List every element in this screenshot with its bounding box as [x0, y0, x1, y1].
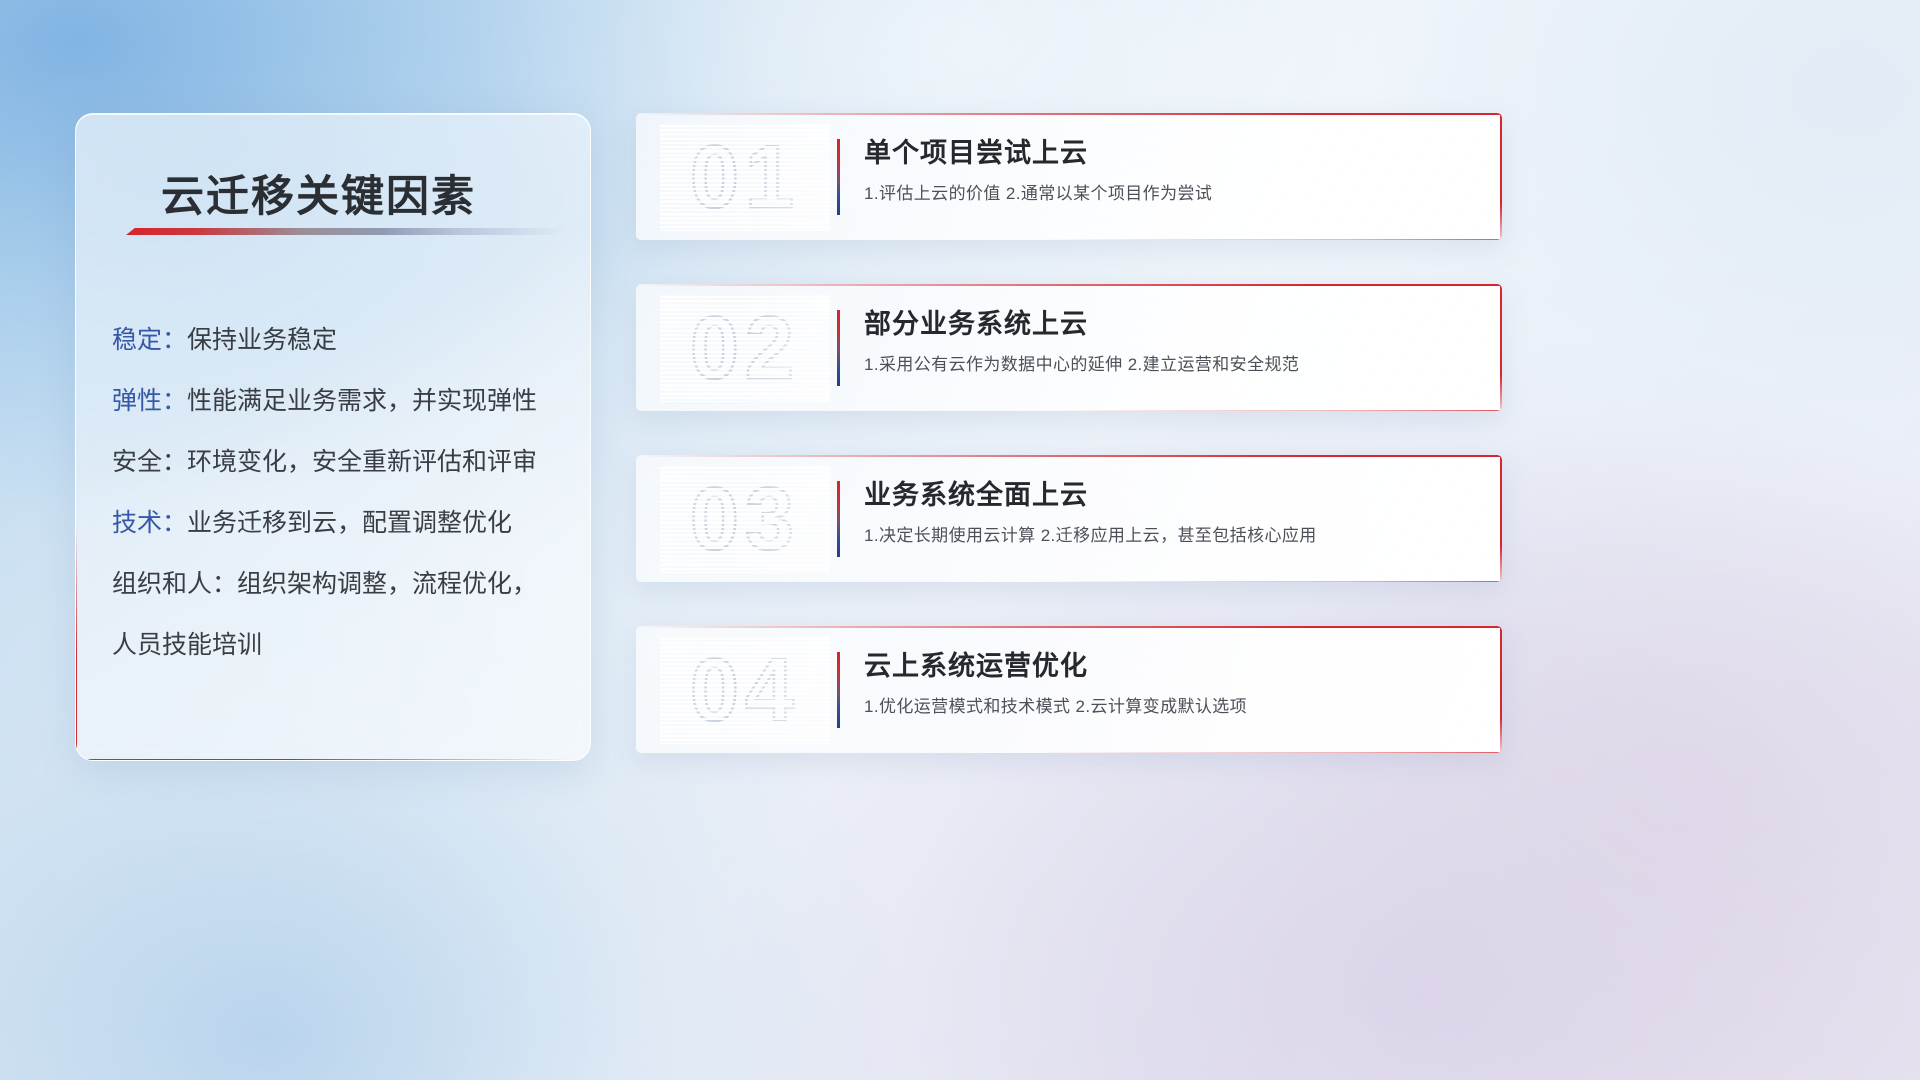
card-top-accent: [636, 284, 1502, 286]
step-title: 云上系统运营优化: [864, 646, 1468, 686]
step-description: 1.采用公有云作为数据中心的延伸 2.建立运营和安全规范: [864, 352, 1468, 378]
factor-value: 业务迁移到云，配置调整优化: [187, 509, 512, 537]
step-description: 1.评估上云的价值 2.通常以某个项目作为尝试: [864, 181, 1468, 207]
card-divider-bar: [837, 652, 840, 728]
step-description: 1.优化运营模式和技术模式 2.云计算变成默认选项: [864, 694, 1468, 720]
step-number-glyph: 03: [660, 465, 830, 573]
card-right-accent: [1500, 626, 1502, 753]
card-divider-bar: [837, 139, 840, 215]
page-title: 云迁移关键因素: [161, 162, 476, 224]
step-number-watermark: 01: [660, 123, 830, 231]
card-top-accent: [636, 626, 1502, 628]
card-right-accent: [1500, 284, 1502, 411]
card-bottom-accent: [636, 410, 1502, 411]
card-right-accent: [1500, 455, 1502, 582]
card-bottom-accent: [636, 239, 1502, 240]
card-bottom-accent: [636, 752, 1502, 753]
factor-value: 保持业务稳定: [187, 326, 337, 354]
step-text-block: 单个项目尝试上云 1.评估上云的价值 2.通常以某个项目作为尝试: [864, 133, 1468, 207]
migration-steps-list: 01 单个项目尝试上云 1.评估上云的价值 2.通常以某个项目作为尝试 02 部…: [636, 113, 1502, 797]
step-title: 业务系统全面上云: [864, 475, 1468, 515]
factor-value: 组织架构调整，流程优化，: [237, 570, 537, 598]
card-top-accent: [636, 455, 1502, 457]
key-factors-panel: 云迁移关键因素 稳定：保持业务稳定 弹性：性能满足业务需求，并实现弹性 安全：环…: [75, 113, 591, 761]
slide-canvas: 云迁移关键因素 稳定：保持业务稳定 弹性：性能满足业务需求，并实现弹性 安全：环…: [0, 0, 1920, 1080]
factor-label: 稳定：: [112, 326, 187, 354]
step-card-01[interactable]: 01 单个项目尝试上云 1.评估上云的价值 2.通常以某个项目作为尝试: [636, 113, 1502, 240]
step-text-block: 业务系统全面上云 1.决定长期使用云计算 2.迁移应用上云，甚至包括核心应用: [864, 475, 1468, 549]
step-title: 部分业务系统上云: [864, 304, 1468, 344]
factor-label: 弹性：: [112, 387, 187, 415]
step-number-glyph: 04: [660, 636, 830, 744]
list-item: 弹性：性能满足业务需求，并实现弹性: [112, 371, 582, 432]
step-card-03[interactable]: 03 业务系统全面上云 1.决定长期使用云计算 2.迁移应用上云，甚至包括核心应…: [636, 455, 1502, 582]
list-item: 安全：环境变化，安全重新评估和评审: [112, 432, 582, 493]
step-title: 单个项目尝试上云: [864, 133, 1468, 173]
step-card-02[interactable]: 02 部分业务系统上云 1.采用公有云作为数据中心的延伸 2.建立运营和安全规范: [636, 284, 1502, 411]
panel-bottom-accent-bar: [76, 759, 590, 761]
step-number-glyph: 02: [660, 294, 830, 402]
step-number-watermark: 02: [660, 294, 830, 402]
step-description: 1.决定长期使用云计算 2.迁移应用上云，甚至包括核心应用: [864, 523, 1468, 549]
card-right-accent: [1500, 113, 1502, 240]
card-top-accent: [636, 113, 1502, 115]
list-item: 技术：业务迁移到云，配置调整优化: [112, 493, 582, 554]
step-text-block: 云上系统运营优化 1.优化运营模式和技术模式 2.云计算变成默认选项: [864, 646, 1468, 720]
factor-value: 人员技能培训: [112, 631, 262, 659]
step-card-04[interactable]: 04 云上系统运营优化 1.优化运营模式和技术模式 2.云计算变成默认选项: [636, 626, 1502, 753]
card-divider-bar: [837, 310, 840, 386]
card-bottom-accent: [636, 581, 1502, 582]
factor-label: 技术：: [112, 509, 187, 537]
factor-value: 环境变化，安全重新评估和评审: [187, 448, 537, 476]
step-number-watermark: 03: [660, 465, 830, 573]
step-number-glyph: 01: [660, 123, 830, 231]
list-item: 稳定：保持业务稳定: [112, 310, 582, 371]
factor-value: 性能满足业务需求，并实现弹性: [187, 387, 537, 415]
factor-label: 安全：: [112, 448, 187, 476]
panel-left-accent-bar: [75, 527, 77, 760]
card-divider-bar: [837, 481, 840, 557]
key-factors-list: 稳定：保持业务稳定 弹性：性能满足业务需求，并实现弹性 安全：环境变化，安全重新…: [112, 310, 582, 676]
title-underline-gradient: [126, 228, 566, 235]
step-text-block: 部分业务系统上云 1.采用公有云作为数据中心的延伸 2.建立运营和安全规范: [864, 304, 1468, 378]
step-number-watermark: 04: [660, 636, 830, 744]
list-item: 组织和人：组织架构调整，流程优化，: [112, 554, 582, 615]
list-item-continuation: 人员技能培训: [112, 615, 582, 676]
factor-label: 组织和人：: [112, 570, 237, 598]
